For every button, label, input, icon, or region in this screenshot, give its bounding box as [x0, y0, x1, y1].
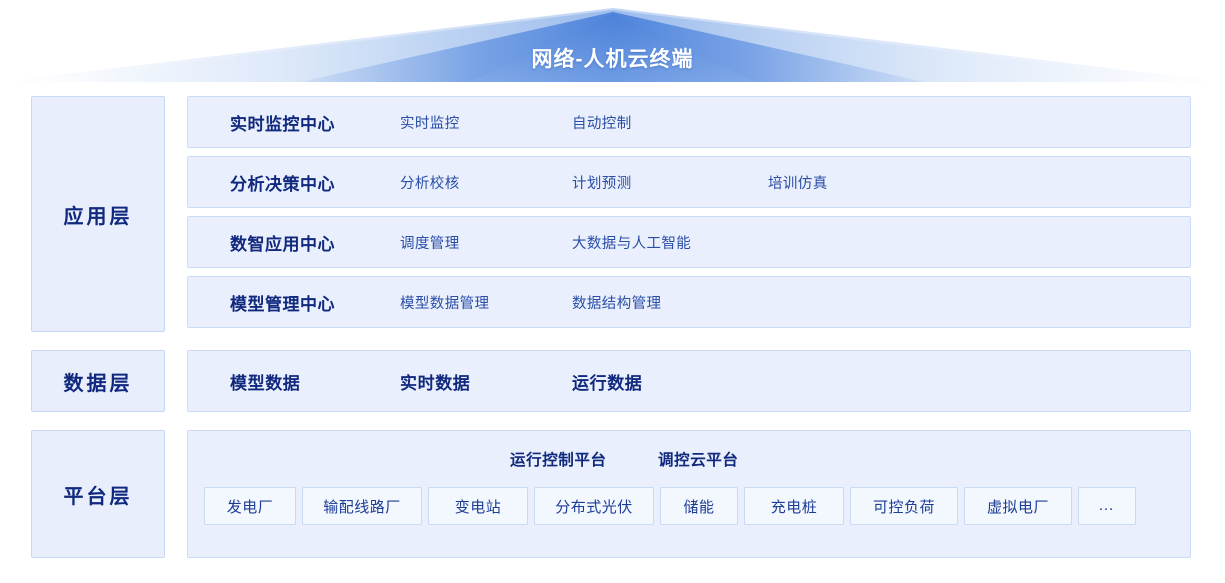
app-item[interactable]: 模型数据管理	[400, 292, 572, 313]
app-row-title: 分析决策中心	[188, 170, 400, 195]
app-item[interactable]: 计划预测	[572, 172, 768, 193]
platform-heading[interactable]: 运行控制平台	[510, 448, 658, 470]
chip-charging-pile[interactable]: 充电桩	[744, 487, 844, 525]
chip-substation[interactable]: 变电站	[428, 487, 528, 525]
chip-distributed-pv[interactable]: 分布式光伏	[534, 487, 654, 525]
chip-controllable-load[interactable]: 可控负荷	[850, 487, 958, 525]
layer-label-platform: 平台层	[31, 430, 165, 558]
app-row-analysis-decision[interactable]: 分析决策中心 分析校核 计划预测 培训仿真	[187, 156, 1191, 208]
app-row-realtime-monitoring[interactable]: 实时监控中心 实时监控 自动控制	[187, 96, 1191, 148]
platform-heading-row: 运行控制平台 调控云平台	[188, 431, 1190, 487]
data-row[interactable]: 模型数据 实时数据 运行数据	[187, 350, 1191, 412]
platform-chips-row: 发电厂 输配线路厂 变电站 分布式光伏 储能 充电桩 可控负荷 虚拟电厂 …	[188, 487, 1190, 525]
chip-virtual-power-plant[interactable]: 虚拟电厂	[964, 487, 1072, 525]
layer-application: 应用层 实时监控中心 实时监控 自动控制 分析决策中心 分析校核 计划预测 培训…	[31, 96, 1191, 332]
app-row-title: 数智应用中心	[188, 230, 400, 255]
app-item[interactable]: 实时监控	[400, 112, 572, 133]
layer-platform: 平台层 运行控制平台 调控云平台 发电厂 输配线路厂 变电站 分布式光伏 储能 …	[31, 430, 1191, 558]
app-item[interactable]: 自动控制	[572, 112, 768, 133]
layer-label-application: 应用层	[31, 96, 165, 332]
layer-data: 数据层 模型数据 实时数据 运行数据	[31, 350, 1191, 412]
app-item[interactable]: 大数据与人工智能	[572, 232, 768, 253]
platform-content: 运行控制平台 调控云平台 发电厂 输配线路厂 变电站 分布式光伏 储能 充电桩 …	[187, 430, 1191, 558]
app-item[interactable]: 培训仿真	[768, 172, 964, 193]
data-rows: 模型数据 实时数据 运行数据	[187, 350, 1191, 412]
app-row-title: 实时监控中心	[188, 110, 400, 135]
app-item[interactable]: 调度管理	[400, 232, 572, 253]
platform-heading[interactable]: 调控云平台	[658, 448, 739, 470]
chip-more-ellipsis[interactable]: …	[1078, 487, 1136, 525]
chip-transmission-line[interactable]: 输配线路厂	[302, 487, 422, 525]
app-row-model-management[interactable]: 模型管理中心 模型数据管理 数据结构管理	[187, 276, 1191, 328]
chip-energy-storage[interactable]: 储能	[660, 487, 738, 525]
app-row-title: 模型管理中心	[188, 290, 400, 315]
app-item[interactable]: 数据结构管理	[572, 292, 768, 313]
app-row-digital-intelligence[interactable]: 数智应用中心 调度管理 大数据与人工智能	[187, 216, 1191, 268]
platform-panel: 运行控制平台 调控云平台 发电厂 输配线路厂 变电站 分布式光伏 储能 充电桩 …	[187, 430, 1191, 558]
roof-shape	[0, 0, 1225, 88]
data-item[interactable]: 实时数据	[400, 369, 572, 394]
application-rows: 实时监控中心 实时监控 自动控制 分析决策中心 分析校核 计划预测 培训仿真 数…	[187, 96, 1191, 332]
chip-power-plant[interactable]: 发电厂	[204, 487, 296, 525]
roof-header: 网络-人机云终端	[0, 0, 1225, 88]
app-item[interactable]: 分析校核	[400, 172, 572, 193]
layer-label-data: 数据层	[31, 350, 165, 412]
architecture-body: 应用层 实时监控中心 实时监控 自动控制 分析决策中心 分析校核 计划预测 培训…	[0, 88, 1225, 583]
data-item[interactable]: 模型数据	[188, 369, 400, 394]
data-item[interactable]: 运行数据	[572, 369, 768, 394]
